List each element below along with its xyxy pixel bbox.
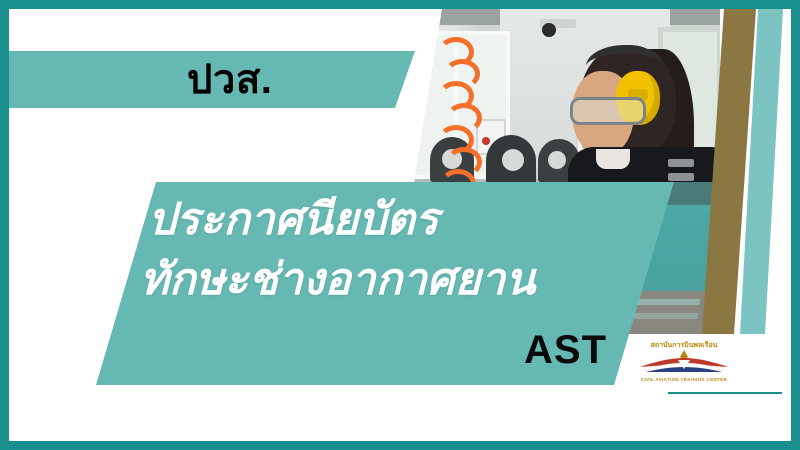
- cctv-camera-icon: [540, 19, 576, 28]
- grinder-wheel-2: [502, 149, 524, 171]
- logo-underline-rule: [668, 392, 782, 394]
- poster-canvas: ปวส. ประกาศนียบัตร ทักษะช่างอากาศยาน AST…: [0, 0, 800, 450]
- logo-thai-text: สถาบันการบินพลเรือน: [651, 341, 718, 349]
- catc-logo: สถาบันการบินพลเรือน CIVIL AVIATION TRAIN…: [636, 336, 732, 386]
- safety-glasses: [570, 97, 646, 125]
- uniform-collar: [596, 149, 630, 169]
- grinder-wheel-3: [548, 151, 566, 169]
- eyebrow-label: ปวส.: [187, 60, 272, 100]
- title-banner: [96, 182, 674, 385]
- eyebrow-banner: ปวส.: [9, 51, 415, 108]
- logo-english-text: CIVIL AVIATION TRAINING CENTER: [641, 377, 728, 382]
- shoulder-epaulette: [668, 159, 694, 167]
